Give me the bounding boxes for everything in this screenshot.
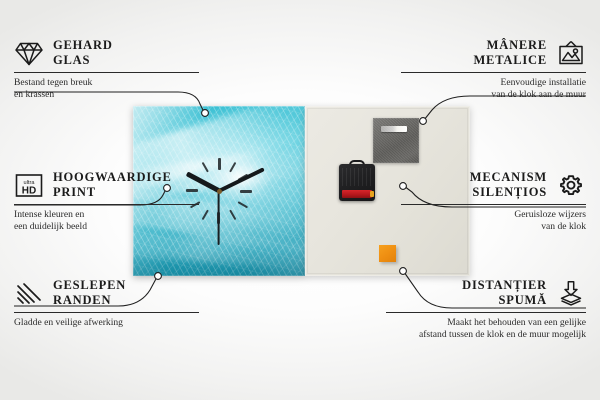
callout-title-line2: METALICE xyxy=(473,53,547,68)
callout-desc-line1: Geruisloze wijzers xyxy=(401,209,586,221)
callout-desc-line1: Intense kleuren en xyxy=(14,209,199,221)
metal-grain-texture xyxy=(373,118,419,163)
callout-desc-line1: Gladde en veilige afwerking xyxy=(14,317,199,329)
callout-title: MÂNERE METALICE xyxy=(473,38,547,68)
svg-text:HD: HD xyxy=(22,185,36,196)
infographic-canvas: GEHARD GLAS Bestand tegen breuk en krass… xyxy=(0,0,600,400)
callout-rule xyxy=(14,204,199,205)
callout-title-line2: SILENȚIOS xyxy=(470,185,547,200)
movement-body xyxy=(339,164,375,201)
callout-desc-line2: van de klok aan de muur xyxy=(401,89,586,101)
callout-mecanism-silentios: MECANISM SILENȚIOS Geruisloze wijzers va… xyxy=(401,170,586,234)
callout-rule xyxy=(401,72,586,73)
callout-rule xyxy=(14,72,199,73)
callout-heading: GEHARD GLAS xyxy=(14,38,199,68)
callout-heading: GESLEPEN RANDEN xyxy=(14,278,199,308)
callout-description: Maakt het behouden van een gelijke afsta… xyxy=(386,317,586,342)
callout-rule xyxy=(386,312,586,313)
callout-title: MECANISM SILENȚIOS xyxy=(470,170,547,200)
battery-terminal xyxy=(370,191,374,197)
callout-heading: MECANISM SILENȚIOS xyxy=(401,170,586,200)
callout-title-line2: GLAS xyxy=(53,53,113,68)
foam-spacer xyxy=(379,245,396,262)
callout-manere-metalice: MÂNERE METALICE Eenvoudige installatie v… xyxy=(401,38,586,102)
callout-title-line2: RANDEN xyxy=(53,293,126,308)
callout-desc-line1: Bestand tegen breuk xyxy=(14,77,199,89)
callout-title-line1: HOOGWAARDIGE xyxy=(53,170,172,185)
callout-desc-line2: van de klok xyxy=(401,221,586,233)
callout-desc-line1: Eenvoudige installatie xyxy=(401,77,586,89)
gear-icon xyxy=(556,172,586,199)
clock-center-cap xyxy=(217,189,222,194)
callout-rule xyxy=(401,204,586,205)
callout-desc-line1: Maakt het behouden van een gelijke xyxy=(386,317,586,329)
movement-ridges xyxy=(342,168,372,186)
callout-title-line1: MECANISM xyxy=(470,170,547,185)
callout-description: Gladde en veilige afwerking xyxy=(14,317,199,329)
callout-desc-line2: en krassen xyxy=(14,89,199,101)
callout-heading: DISTANȚIER SPUMĂ xyxy=(386,278,586,308)
callout-heading: ultra HD HOOGWAARDIGE PRINT xyxy=(14,170,199,200)
ultra-hd-icon: ultra HD xyxy=(14,172,44,199)
callout-gehard-glas: GEHARD GLAS Bestand tegen breuk en krass… xyxy=(14,38,199,102)
diamond-icon xyxy=(14,40,44,67)
callout-heading: MÂNERE METALICE xyxy=(401,38,586,68)
clock-movement-housing xyxy=(339,164,375,201)
callout-title-line1: GESLEPEN xyxy=(53,278,126,293)
callout-distantier-spuma: DISTANȚIER SPUMĂ Maakt het behouden van … xyxy=(386,278,586,342)
beveled-edges-icon xyxy=(14,280,44,307)
callout-title-line1: GEHARD xyxy=(53,38,113,53)
press-down-pad-icon xyxy=(556,280,586,307)
callout-title-line1: DISTANȚIER xyxy=(462,278,547,293)
glass-bottom-shade xyxy=(133,250,305,276)
callout-rule xyxy=(14,312,199,313)
callout-title: HOOGWAARDIGE PRINT xyxy=(53,170,172,200)
callout-description: Intense kleuren en een duidelijk beeld xyxy=(14,209,199,234)
callout-geslepen-randen: GESLEPEN RANDEN Gladde en veilige afwerk… xyxy=(14,278,199,329)
clock-second-hand xyxy=(218,191,220,245)
callout-title: GEHARD GLAS xyxy=(53,38,113,68)
callout-hoogwaardige-print: ultra HD HOOGWAARDIGE PRINT Intense kleu… xyxy=(14,170,199,234)
callout-title-line2: SPUMĂ xyxy=(462,293,547,308)
callout-description: Geruisloze wijzers van de klok xyxy=(401,209,586,234)
callout-title-line2: PRINT xyxy=(53,185,172,200)
callout-description: Bestand tegen breuk en krassen xyxy=(14,77,199,102)
callout-description: Eenvoudige installatie van de klok aan d… xyxy=(401,77,586,102)
hanger-slot xyxy=(381,126,407,132)
callout-title: DISTANȚIER SPUMĂ xyxy=(462,278,547,308)
callout-desc-line2: een duidelijk beeld xyxy=(14,221,199,233)
callout-desc-line2: afstand tussen de klok en de muur mogeli… xyxy=(386,329,586,341)
callout-title-line1: MÂNERE xyxy=(473,38,547,53)
metal-hanger-bracket xyxy=(373,118,419,163)
battery xyxy=(342,190,372,198)
callout-title: GESLEPEN RANDEN xyxy=(53,278,126,308)
framed-picture-icon xyxy=(556,40,586,67)
